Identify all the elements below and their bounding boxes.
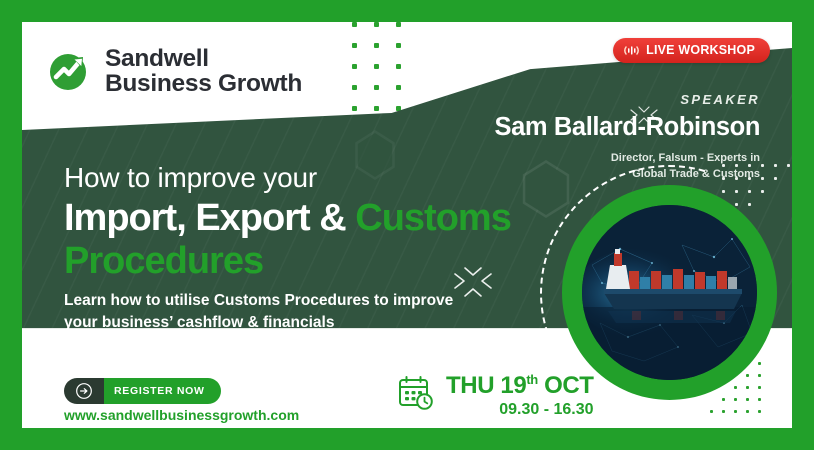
decor-dot bbox=[374, 43, 379, 48]
event-date-block: THU 19th OCT 09.30 - 16.30 bbox=[397, 372, 594, 419]
decor-dot bbox=[374, 85, 379, 90]
decor-dot bbox=[352, 22, 357, 27]
decor-dot bbox=[374, 106, 379, 111]
live-workshop-badge[interactable]: LIVE WORKSHOP bbox=[613, 38, 770, 63]
decor-dot bbox=[758, 410, 761, 413]
decor-dot bbox=[746, 374, 749, 377]
event-date-main: THU 19th OCT bbox=[446, 372, 594, 399]
decor-dot bbox=[758, 374, 761, 377]
decor-dot bbox=[396, 64, 401, 69]
headline-line2-white: Import, Export & bbox=[64, 197, 346, 239]
decor-dot bbox=[396, 85, 401, 90]
decor-dot bbox=[374, 22, 379, 27]
decor-dot bbox=[746, 386, 749, 389]
decor-dot bbox=[352, 64, 357, 69]
decor-dot bbox=[396, 43, 401, 48]
decor-dot bbox=[746, 410, 749, 413]
live-workshop-label: LIVE WORKSHOP bbox=[646, 43, 755, 57]
brand-name-line2: Business Growth bbox=[105, 71, 302, 96]
event-time: 09.30 - 16.30 bbox=[446, 401, 594, 419]
headline-line2-accent: Customs bbox=[355, 197, 511, 239]
decor-dot bbox=[722, 410, 725, 413]
subtitle-block: Learn how to utilise Customs Procedures … bbox=[64, 290, 453, 335]
decor-dot bbox=[787, 164, 790, 167]
decor-dot bbox=[774, 164, 777, 167]
speaker-label: SPEAKER bbox=[495, 92, 760, 107]
container-ship-digital-network-image bbox=[582, 205, 757, 380]
calendar-clock-icon bbox=[397, 374, 435, 417]
decor-dot bbox=[734, 410, 737, 413]
subtitle-line1: Learn how to utilise Customs Procedures … bbox=[64, 290, 453, 312]
decor-dot bbox=[746, 398, 749, 401]
decor-dot bbox=[734, 386, 737, 389]
headline-line3: Procedures bbox=[64, 240, 511, 283]
decor-dot bbox=[761, 164, 764, 167]
event-date-suffix: th bbox=[526, 372, 537, 387]
growth-arrow-circle-icon bbox=[47, 47, 94, 94]
website-url[interactable]: www.sandwellbusinessgrowth.com bbox=[64, 407, 299, 423]
decor-dot bbox=[734, 398, 737, 401]
decor-dot bbox=[352, 85, 357, 90]
decor-dot bbox=[710, 410, 713, 413]
arrow-right-circle-icon bbox=[64, 378, 104, 404]
brand-name-line1: Sandwell bbox=[105, 46, 302, 71]
decor-dot bbox=[374, 64, 379, 69]
decor-top-dot-grid bbox=[352, 22, 442, 112]
decor-dot bbox=[722, 398, 725, 401]
promo-banner: Sandwell Business Growth LIVE WORKSHOP S… bbox=[0, 0, 814, 450]
event-month: OCT bbox=[544, 372, 593, 399]
banner-card: Sandwell Business Growth LIVE WORKSHOP S… bbox=[22, 22, 792, 428]
event-date-text: THU 19th OCT 09.30 - 16.30 bbox=[446, 372, 594, 419]
subtitle-line2: your business’ cashflow & financials bbox=[64, 312, 453, 334]
decor-dot bbox=[774, 177, 777, 180]
decor-dot bbox=[396, 22, 401, 27]
decor-dot bbox=[758, 362, 761, 365]
decor-dot bbox=[352, 43, 357, 48]
brand-logo[interactable]: Sandwell Business Growth bbox=[47, 46, 302, 96]
register-now-button[interactable]: REGISTER NOW bbox=[64, 378, 221, 404]
event-date-number: 19 bbox=[500, 372, 526, 399]
headline-line1: How to improve your bbox=[64, 162, 511, 194]
decor-dot bbox=[761, 177, 764, 180]
decor-dot bbox=[758, 386, 761, 389]
headline-line2: Import, Export & Customs bbox=[64, 197, 511, 240]
register-now-label: REGISTER NOW bbox=[104, 378, 221, 404]
speaker-role-line1: Director, Falsum - Experts in bbox=[495, 151, 760, 167]
event-day: THU bbox=[446, 372, 494, 399]
live-broadcast-icon bbox=[623, 44, 640, 57]
focus-chevrons-icon bbox=[450, 266, 496, 313]
decor-dot bbox=[758, 398, 761, 401]
headline-block: How to improve your Import, Export & Cus… bbox=[64, 162, 511, 282]
focus-chevrons-icon bbox=[627, 106, 661, 137]
decor-bottom-dot-triangle bbox=[710, 362, 792, 428]
decor-dot bbox=[352, 106, 357, 111]
brand-logo-text: Sandwell Business Growth bbox=[105, 46, 302, 96]
